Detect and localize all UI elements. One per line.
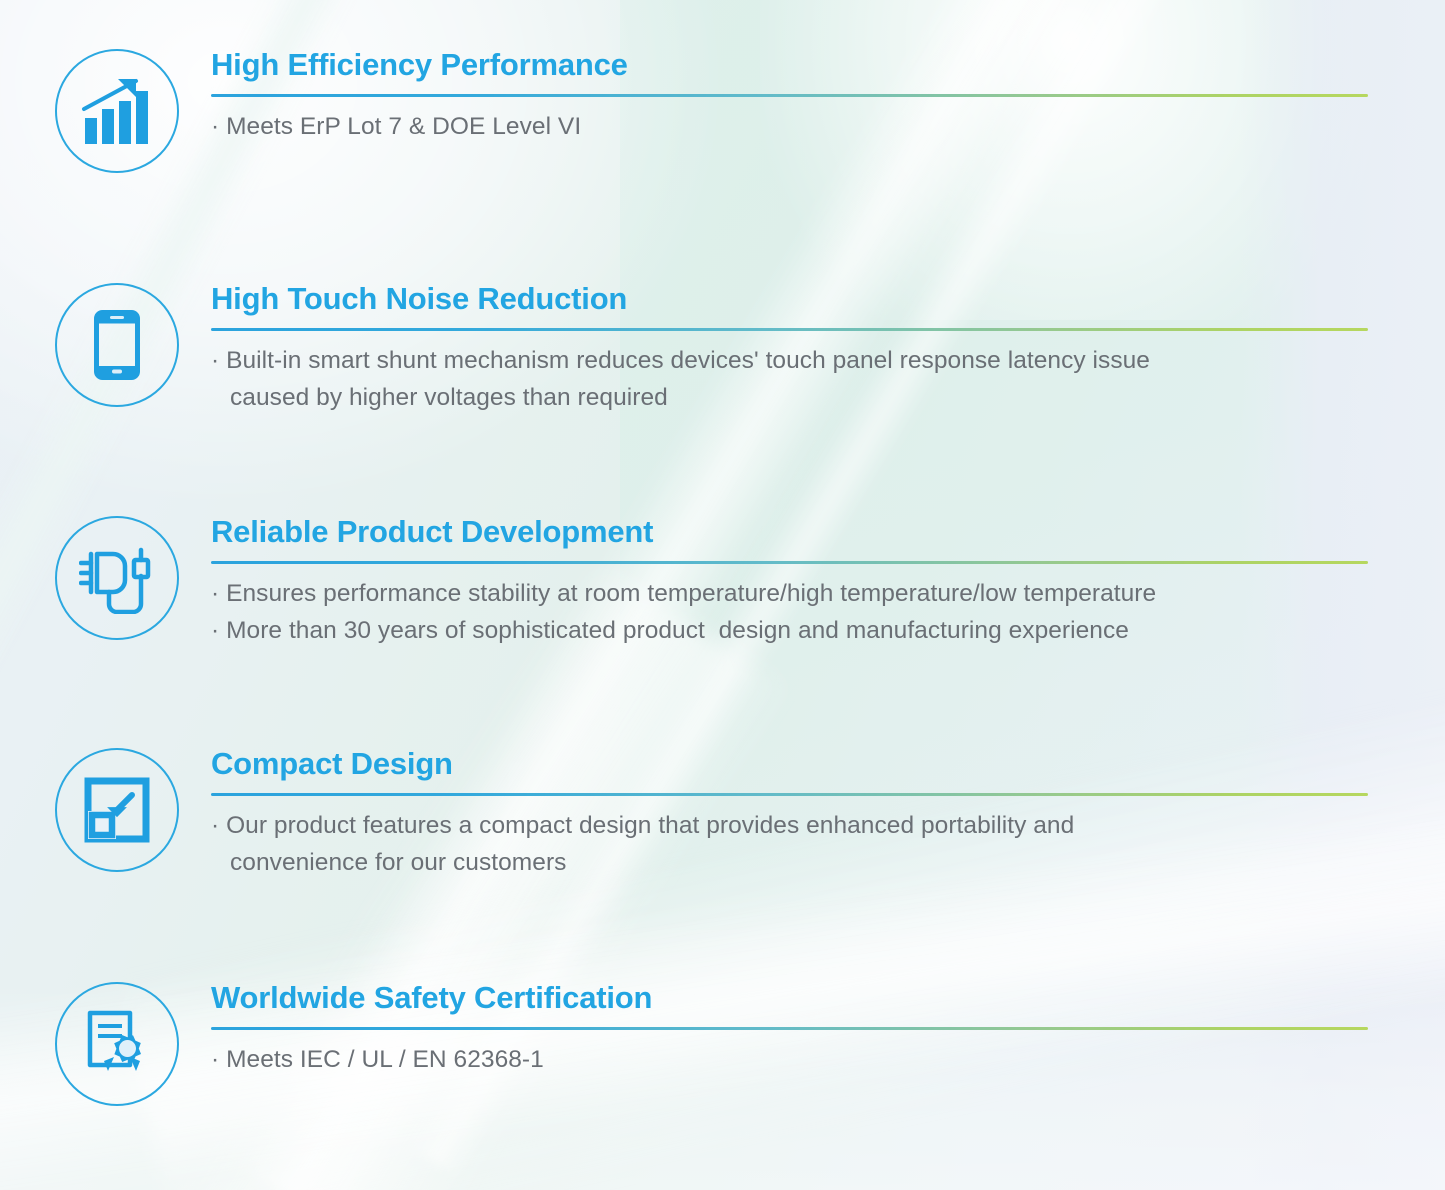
feature-bullet-list: · Meets ErP Lot 7 & DOE Level VI <box>211 108 1401 145</box>
feature-bullet-list: · Ensures performance stability at room … <box>211 575 1401 649</box>
feature-bullet-line: · Meets IEC / UL / EN 62368-1 <box>211 1041 1401 1078</box>
power-adapter-icon <box>55 516 179 640</box>
feature-title: Reliable Product Development <box>211 516 1401 549</box>
bullet-symbol: · <box>211 113 219 140</box>
feature-body: Reliable Product Development · Ensures p… <box>211 516 1401 649</box>
bullet-symbol: · <box>211 812 219 839</box>
feature-divider-rule <box>211 1027 1368 1030</box>
feature-icon-wrapper <box>55 283 179 407</box>
feature-bullet-line: · Ensures performance stability at room … <box>211 575 1401 612</box>
feature-body: Worldwide Safety Certification · Meets I… <box>211 982 1401 1078</box>
feature-divider-rule <box>211 94 1368 97</box>
feature-bullet-text: Ensures performance stability at room te… <box>226 580 1156 607</box>
feature-bullet-text: Meets IEC / UL / EN 62368-1 <box>226 1046 544 1073</box>
feature-bullet-line: · Our product features a compact design … <box>211 807 1401 844</box>
feature-divider-rule <box>211 328 1368 331</box>
feature-icon-wrapper <box>55 982 179 1106</box>
feature-bullet-list: · Built-in smart shunt mechanism reduces… <box>211 342 1401 416</box>
feature-divider-rule <box>211 561 1368 564</box>
feature-title: High Touch Noise Reduction <box>211 283 1401 316</box>
feature-icon-wrapper <box>55 516 179 640</box>
feature-bullet-line-continuation: caused by higher voltages than required <box>211 379 1401 416</box>
feature-icon-wrapper <box>55 748 179 872</box>
feature-bullet-text: More than 30 years of sophisticated prod… <box>226 617 1129 644</box>
feature-list: High Efficiency Performance · Meets ErP … <box>0 0 1445 1190</box>
bullet-symbol: · <box>211 1046 219 1073</box>
feature-body: High Touch Noise Reduction · Built-in sm… <box>211 283 1401 416</box>
feature-divider-rule <box>211 793 1368 796</box>
smartphone-icon <box>55 283 179 407</box>
feature-bullet-text: Our product features a compact design th… <box>226 812 1074 839</box>
feature-title: High Efficiency Performance <box>211 49 1401 82</box>
bar-chart-growth-icon <box>55 49 179 173</box>
feature-body: Compact Design · Our product features a … <box>211 748 1401 881</box>
feature-bullet-line: · Built-in smart shunt mechanism reduces… <box>211 342 1401 379</box>
bullet-symbol: · <box>211 617 219 644</box>
bullet-symbol: · <box>211 580 219 607</box>
feature-title: Worldwide Safety Certification <box>211 982 1401 1015</box>
feature-body: High Efficiency Performance · Meets ErP … <box>211 49 1401 145</box>
feature-bullet-line-continuation: convenience for our customers <box>211 844 1401 881</box>
feature-title: Compact Design <box>211 748 1401 781</box>
feature-bullet-text: Built-in smart shunt mechanism reduces d… <box>226 347 1150 374</box>
feature-bullet-text: Meets ErP Lot 7 & DOE Level VI <box>226 113 581 140</box>
feature-bullet-list: · Meets IEC / UL / EN 62368-1 <box>211 1041 1401 1078</box>
feature-bullet-line: · More than 30 years of sophisticated pr… <box>211 612 1401 649</box>
feature-bullet-list: · Our product features a compact design … <box>211 807 1401 881</box>
feature-bullet-line: · Meets ErP Lot 7 & DOE Level VI <box>211 108 1401 145</box>
certificate-seal-icon <box>55 982 179 1106</box>
shrink-to-fit-icon <box>55 748 179 872</box>
feature-icon-wrapper <box>55 49 179 173</box>
bullet-symbol: · <box>211 347 219 374</box>
